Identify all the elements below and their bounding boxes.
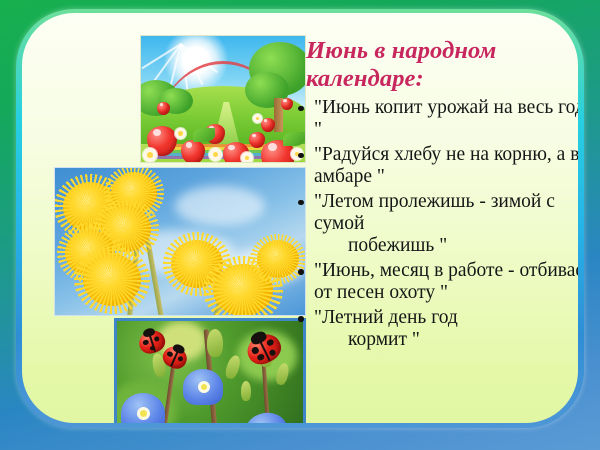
saying-line: "Летний день год bbox=[314, 307, 458, 328]
strawberry-blossom bbox=[175, 128, 186, 139]
strawberry bbox=[181, 140, 205, 163]
image-dandelions-blue-sky bbox=[54, 167, 306, 316]
ladybug-spot bbox=[153, 335, 160, 342]
flower-center bbox=[137, 407, 150, 420]
ladybug-spot bbox=[177, 355, 184, 362]
saying-line: "Радуйся хлебу не на bbox=[314, 144, 489, 165]
ladybug-spot bbox=[266, 338, 275, 347]
ladybug-spot bbox=[166, 351, 173, 358]
list-item: "Июнь копит урожай на весь год " bbox=[284, 97, 578, 141]
strawberry-blossom bbox=[253, 114, 262, 123]
flower-bud bbox=[207, 329, 223, 357]
sayings-list: "Июнь копит урожай на весь год " "Радуйс… bbox=[284, 97, 578, 351]
list-item: "Июнь, месяц в работе - отбивает от песе… bbox=[284, 260, 578, 304]
flower-center bbox=[198, 381, 210, 393]
saying-line: "Летом пролежишь - bbox=[314, 191, 486, 212]
strawberry-blossom bbox=[209, 148, 222, 161]
image-ladybugs-on-veronica bbox=[114, 318, 306, 423]
slide: Июнь в народном календаре: "Июнь копит у… bbox=[0, 0, 600, 450]
flower-bud bbox=[241, 381, 251, 401]
strawberry-leaf bbox=[193, 128, 215, 142]
ladybug-spot bbox=[268, 349, 276, 357]
saying-line-indented: кормит " bbox=[314, 329, 578, 351]
saying-line: "Июнь копит урожай на bbox=[314, 97, 513, 118]
saying-line-indented: побежишь " bbox=[314, 235, 578, 257]
slide-content-panel: Июнь в народном календаре: "Июнь копит у… bbox=[22, 13, 578, 423]
ladybug-spot bbox=[251, 346, 260, 355]
list-item: "Летний день год кормит " bbox=[284, 307, 578, 351]
strawberry-blossom bbox=[143, 148, 157, 162]
ladybug-spot bbox=[142, 339, 149, 346]
text-column: Июнь в народном календаре: "Июнь копит у… bbox=[284, 17, 578, 423]
ladybug-spot bbox=[257, 354, 265, 362]
list-item: "Летом пролежишь - зимой с сумой побежиш… bbox=[284, 191, 578, 257]
saying-line: "Июнь, месяц в работе - bbox=[314, 260, 515, 281]
image-strawberry-field-rainbow bbox=[140, 35, 306, 163]
page-title: Июнь в народном календаре: bbox=[284, 37, 578, 93]
list-item: "Радуйся хлебу не на корню, а в амбаре " bbox=[284, 144, 578, 188]
cloud bbox=[175, 186, 265, 226]
strawberry-blossom bbox=[241, 152, 253, 163]
dandelion-bloom bbox=[83, 254, 141, 306]
